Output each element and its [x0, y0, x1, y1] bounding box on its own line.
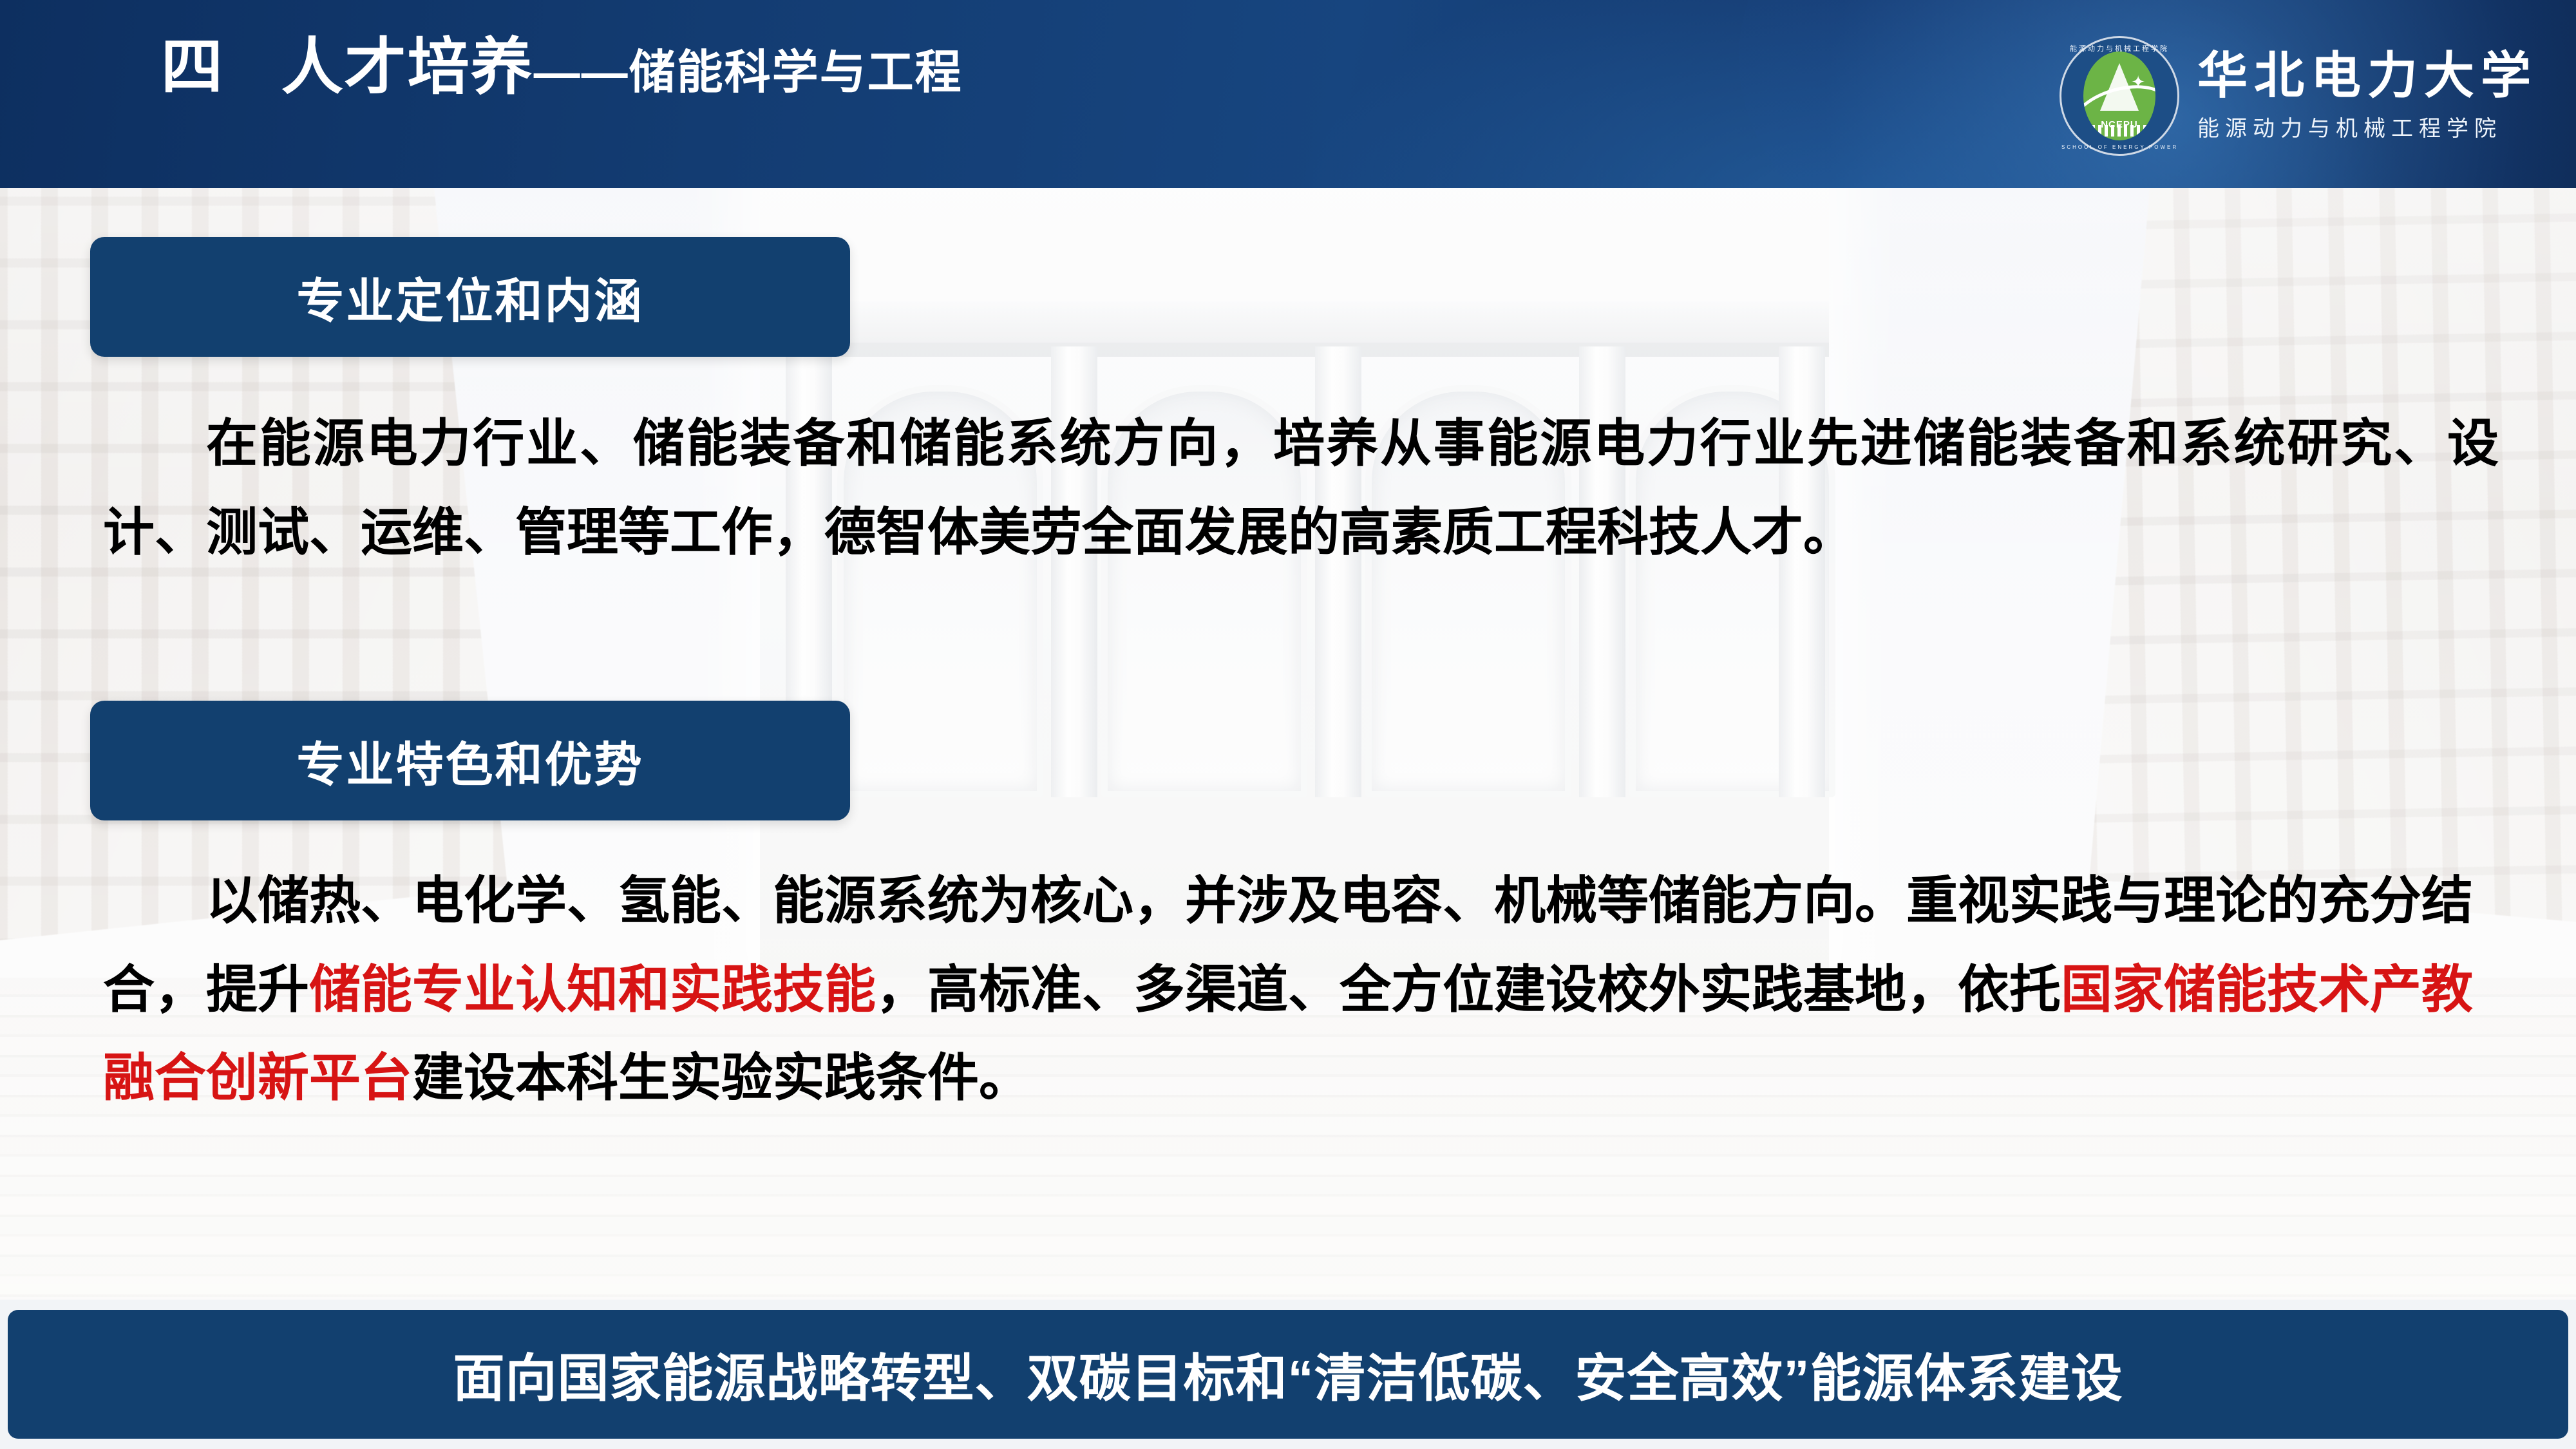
slide-canvas: 四 人才培养——储能科学与工程 能源动力与机械工程学院 ✦ NCEPU SCHO… [0, 0, 2576, 1449]
logo-wordmark: 华北电力大学 能源动力与机械工程学院 [2197, 50, 2537, 143]
crest-english-ring-text: SCHOOL OF ENERGY POWER AND MECHANICAL EN… [2061, 144, 2177, 150]
footer-banner: 面向国家能源战略转型、双碳目标和“清洁低碳、安全高效”能源体系建设 [8, 1310, 2568, 1439]
paragraph-run: 在能源电力行业、储能装备和储能系统方向，培养从事能源电力行业先进储能装备和系统研… [103, 415, 2499, 561]
paragraph-run: ，高标准、多渠道、全方位建设校外实践基地，依托 [876, 961, 2061, 1018]
paragraph-professional-features: 以储热、电化学、氢能、能源系统为核心，并涉及电容、机械等储能方向。重视实践与理论… [103, 857, 2473, 1122]
footer-banner-text: 面向国家能源战略转型、双碳目标和“清洁低碳、安全高效”能源体系建设 [453, 1337, 2123, 1412]
section-label-professional-features: 专业特色和优势 [90, 701, 850, 820]
slide-header-bar: 四 人才培养——储能科学与工程 能源动力与机械工程学院 ✦ NCEPU SCHO… [0, 0, 2576, 188]
paragraph-highlight-run: 储能专业认知和实践技能 [309, 961, 876, 1018]
university-name: 华北电力大学 [2197, 50, 2537, 102]
crest-green-oval: ✦ NCEPU [2083, 52, 2155, 140]
crest-abbr-label: NCEPU [2101, 119, 2138, 130]
school-name: 能源动力与机械工程学院 [2197, 111, 2537, 142]
ncepu-crest-icon: 能源动力与机械工程学院 ✦ NCEPU SCHOOL OF ENERGY POW… [2060, 36, 2179, 156]
page-title-number: 四 [161, 33, 224, 102]
section-label-professional-positioning: 专业定位和内涵 [90, 237, 850, 357]
page-title-sub: ——储能科学与工程 [534, 47, 963, 99]
paragraph-run: 建设本科生实验实践条件。 [412, 1049, 1030, 1106]
page-title-main: 人才培养 [281, 33, 534, 102]
page-title: 四 人才培养——储能科学与工程 [161, 32, 963, 103]
paragraph-professional-positioning: 在能源电力行业、储能装备和储能系统方向，培养从事能源电力行业先进储能装备和系统研… [103, 399, 2499, 576]
university-logo-lockup: 能源动力与机械工程学院 ✦ NCEPU SCHOOL OF ENERGY POW… [2060, 15, 2537, 176]
